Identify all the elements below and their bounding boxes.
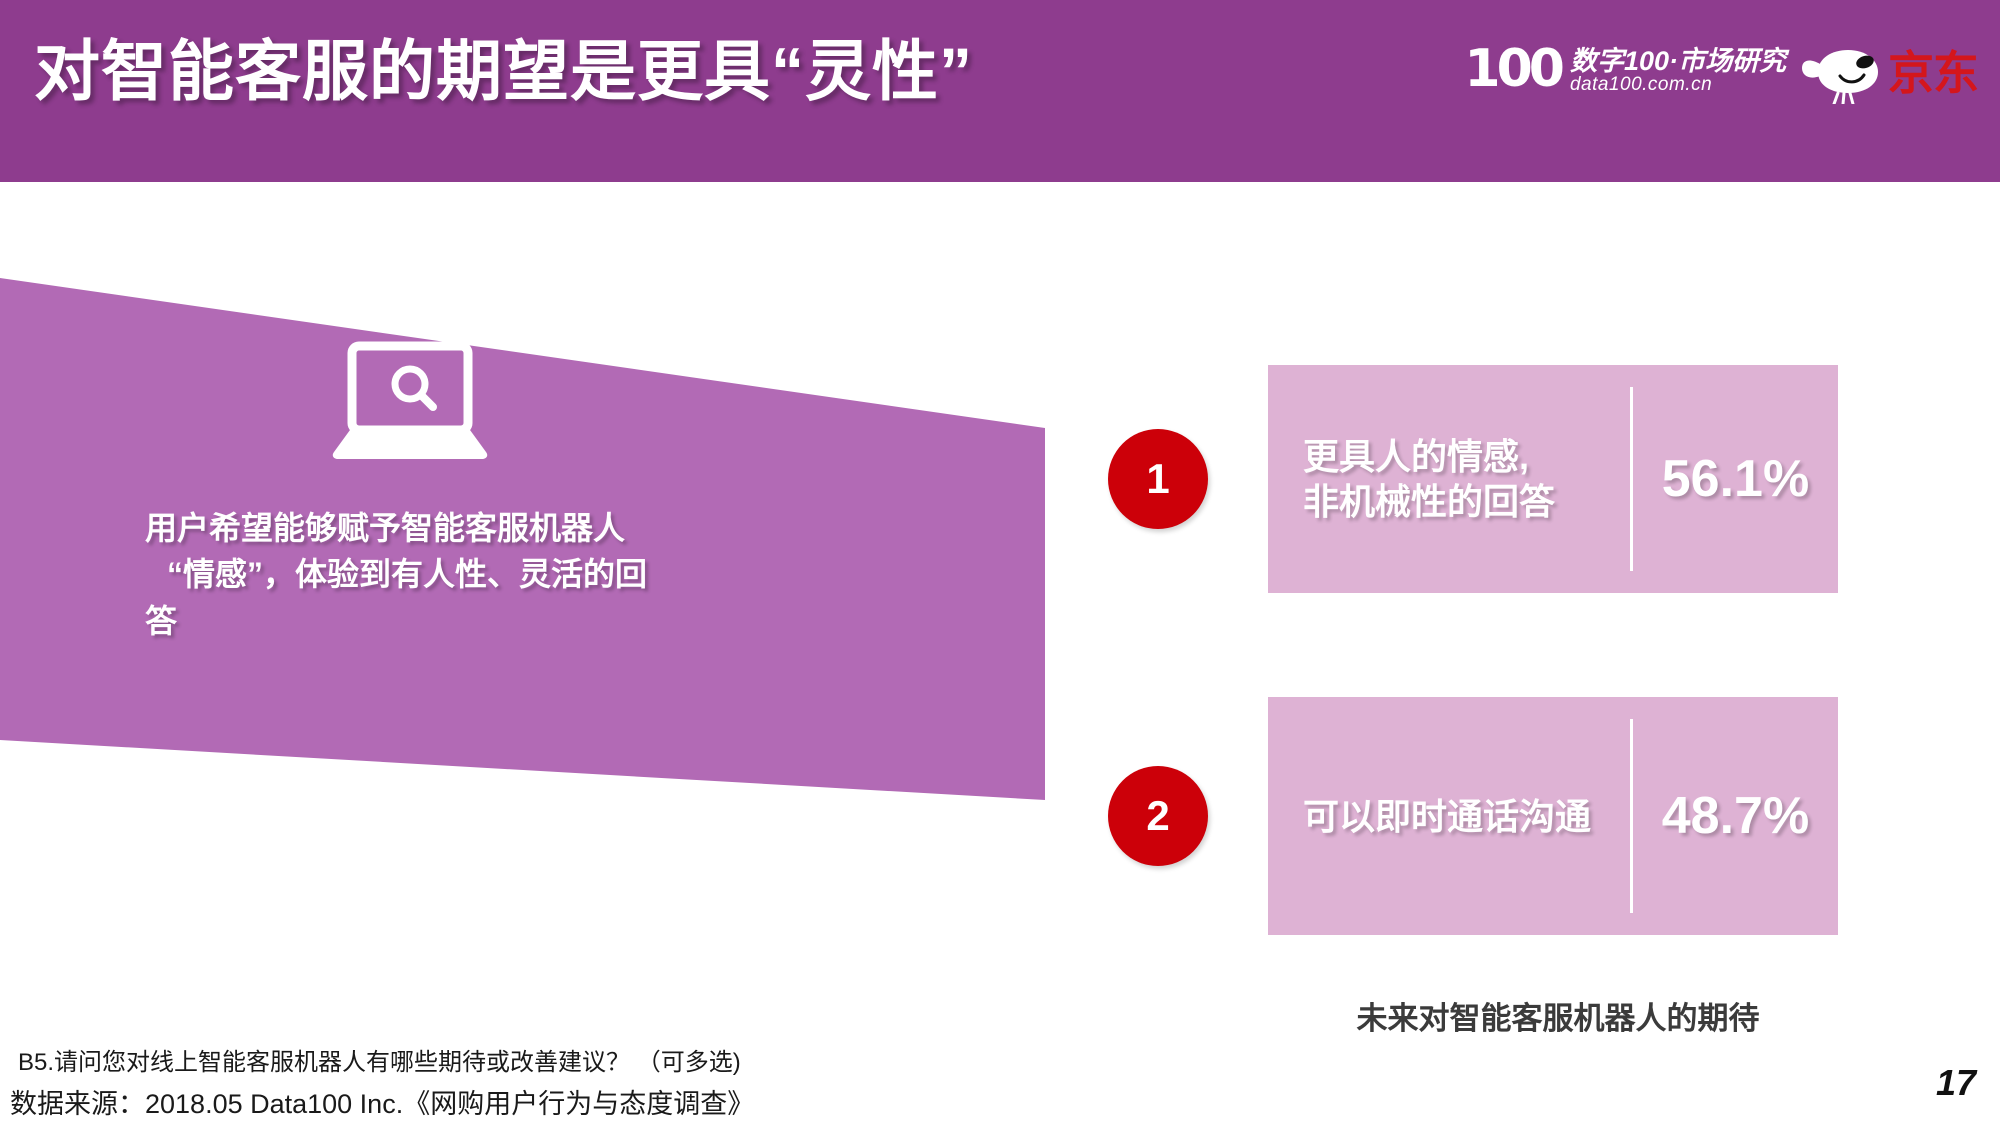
- left-caption-line-2: “情感”，体验到有人性、灵活的回: [145, 551, 765, 597]
- stat-card-2[interactable]: 可以即时通话沟通 48.7%: [1268, 697, 1838, 935]
- stat-card-2-label: 可以即时通话沟通: [1268, 794, 1630, 839]
- jd-dog-icon: [1800, 42, 1884, 104]
- stat-card-2-value: 48.7%: [1633, 786, 1838, 846]
- data100-url: data100.com.cn: [1570, 75, 1786, 95]
- rank-badge-2: 2: [1108, 766, 1208, 866]
- left-panel-content: 用户希望能够赋予智能客服机器人 “情感”，体验到有人性、灵活的回 答: [0, 210, 1045, 810]
- jd-logo: 京东: [1800, 42, 1978, 104]
- left-panel-caption: 用户希望能够赋予智能客服机器人 “情感”，体验到有人性、灵活的回 答: [145, 505, 765, 644]
- data100-logo: 100 数字100·市场研究 data100.com.cn: [1464, 45, 1786, 97]
- footnote-source: 数据来源：2018.05 Data100 Inc.《网购用户行为与态度调查》: [10, 1082, 754, 1121]
- data100-wordmark: 数字100·市场研究 data100.com.cn: [1570, 47, 1786, 95]
- page-number: 17: [1936, 1062, 1976, 1104]
- stat-row-1: 1 更具人的情感, 非机械性的回答 56.1%: [1108, 365, 1838, 593]
- slide-root: 对智能客服的期望是更具“灵性” 100 数字100·市场研究 data100.c…: [0, 0, 2000, 1125]
- brand-logo-cluster: 100 数字100·市场研究 data100.com.cn 京东: [1464, 30, 1978, 112]
- data100-mark: 100: [1464, 43, 1561, 95]
- stat-card-1[interactable]: 更具人的情感, 非机械性的回答 56.1%: [1268, 365, 1838, 593]
- stat-card-1-value: 56.1%: [1633, 449, 1838, 509]
- rank-badge-1: 1: [1108, 429, 1208, 529]
- stat-card-1-label: 更具人的情感, 非机械性的回答: [1268, 434, 1630, 524]
- page-title: 对智能客服的期望是更具“灵性”: [34, 30, 973, 113]
- right-panel-caption: 未来对智能客服机器人的期待: [1268, 993, 1848, 1038]
- left-caption-line-3: 答: [145, 598, 765, 644]
- left-trapezoid-panel: 用户希望能够赋予智能客服机器人 “情感”，体验到有人性、灵活的回 答: [0, 210, 1045, 810]
- stat-row-2: 2 可以即时通话沟通 48.7%: [1108, 697, 1838, 935]
- data100-name: 数字100·市场研究: [1570, 47, 1786, 75]
- left-caption-line-1: 用户希望能够赋予智能客服机器人: [145, 505, 765, 551]
- footnote-question: B5.请问您对线上智能客服机器人有哪些期待或改善建议？ （可多选): [18, 1042, 741, 1077]
- jd-name: 京东: [1888, 50, 1978, 96]
- laptop-search-icon: [330, 340, 490, 460]
